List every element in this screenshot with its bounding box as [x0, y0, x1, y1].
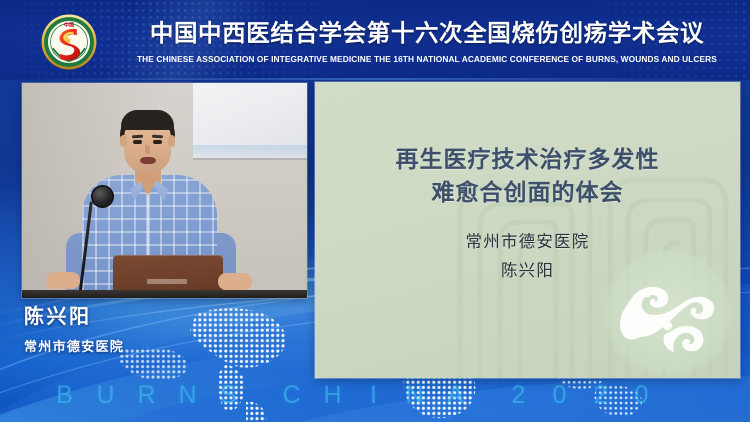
presenter-shirt-placket — [146, 193, 150, 263]
podium-surface — [22, 290, 307, 298]
slide-organization: 常州市德安医院 — [315, 229, 740, 256]
slide-title-line-1: 再生医疗技术治疗多发性 — [315, 144, 740, 177]
speaker-video-feed[interactable] — [22, 83, 307, 298]
presenter-hair-top — [121, 110, 174, 130]
microphone-icon — [93, 187, 112, 206]
slide-title-line-2: 难愈合创面的体会 — [315, 177, 740, 210]
slide-presenter-name: 陈兴阳 — [315, 258, 740, 285]
dragon-ornament-svg — [618, 282, 718, 360]
dragon-ornament-icon — [618, 282, 718, 360]
header-bottom-divider — [0, 78, 750, 80]
header-title-zone: 中国中西医结合学会第十六次全国烧伤创疡学术会议 THE CHINESE ASSO… — [112, 14, 742, 72]
conference-chinese-title: 中国中西医结合学会第十六次全国烧伤创疡学术会议 — [150, 22, 704, 46]
conference-stream-stage: 中国 中国中西医结合学会第十六次全国烧伤创疡学术会议 THE CHINESE A… — [0, 0, 750, 422]
presenter-eye-left — [133, 140, 142, 144]
video-screen-glow — [193, 145, 307, 161]
presenter-ear-right — [168, 135, 175, 147]
conference-english-title: THE CHINESE ASSOCIATION OF INTEGRATIVE M… — [137, 54, 717, 64]
presenter-org-label: 常州市德安医院 — [24, 336, 294, 355]
presenter-hand-left — [46, 272, 80, 289]
conference-emblem-svg: 中国 — [41, 14, 97, 70]
presenter-eye-right — [153, 140, 162, 144]
presenter-hand-right — [218, 273, 252, 290]
presentation-slide[interactable]: 再生医疗技术治疗多发性 难愈合创面的体会 常州市德安医院 陈兴阳 — [315, 82, 740, 378]
presenter-caption: 陈兴阳 常州市德安医院 — [24, 300, 294, 360]
conference-header-banner: 中国 中国中西医结合学会第十六次全国烧伤创疡学术会议 THE CHINESE A… — [0, 0, 750, 80]
emblem-top-text: 中国 — [64, 21, 74, 28]
presenter-name-label: 陈兴阳 — [24, 300, 294, 329]
presenter-nose — [145, 145, 150, 154]
slide-text-block: 再生医疗技术治疗多发性 难愈合创面的体会 常州市德安医院 陈兴阳 — [315, 144, 740, 285]
conference-emblem-icon: 中国 — [41, 14, 97, 70]
presenter-mouth — [140, 157, 156, 164]
laptop-logo — [147, 279, 187, 284]
presenter-ear-left — [120, 135, 127, 147]
